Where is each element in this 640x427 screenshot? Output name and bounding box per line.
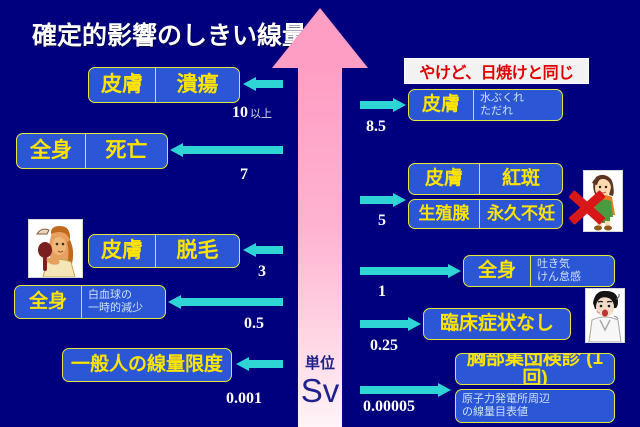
dose-number: 7 xyxy=(240,166,248,183)
dose-number: 0.25 xyxy=(370,337,398,354)
dose-number: 3 xyxy=(258,263,266,280)
dose-suffix: 以上 xyxy=(250,108,272,120)
effect-organ-label: 全身 xyxy=(464,256,530,286)
effect-box-skin-erythema[interactable]: 皮膚 紅斑 xyxy=(408,163,563,195)
dose-value-8-5: 8.5 xyxy=(366,118,386,136)
effect-box-skin-hairloss[interactable]: 皮膚 脱毛 xyxy=(88,234,240,268)
dose-scale-arrow-icon xyxy=(272,8,368,427)
slide-canvas: 確定的影響のしきい線量 単位 Sv 皮膚 潰瘍 10以上 全身 死亡 7 xyxy=(0,0,640,427)
effect-symptom-label: 胸部集団検診 (1回) xyxy=(456,354,614,384)
woman-hair-loss-mirror-image xyxy=(28,219,83,278)
effect-organ-label: 皮膚 xyxy=(89,235,155,267)
dose-arrow-left-05 xyxy=(168,295,283,309)
effect-symptom-label: 水ぶくれ ただれ xyxy=(473,90,562,120)
effect-organ-label: 生殖腺 xyxy=(409,200,479,228)
effect-box-public-dose-limit[interactable]: 一般人の線量限度 xyxy=(62,348,232,382)
prohibition-cross-icon xyxy=(566,186,608,228)
dose-value-0-001: 0.001 xyxy=(226,390,262,408)
effect-organ-label: 全身 xyxy=(17,134,85,168)
effect-symptom-label: 潰瘍 xyxy=(155,68,239,102)
effect-box-gonad-sterility[interactable]: 生殖腺 永久不妊 xyxy=(408,199,563,229)
effect-box-npp-target-dose[interactable]: 原子力発電所周辺 の線量目表値 xyxy=(455,389,615,423)
effect-organ-label: 皮膚 xyxy=(409,164,479,194)
sick-man-nausea-image xyxy=(585,288,625,343)
dose-number: 0.00005 xyxy=(363,398,415,415)
dose-number: 5 xyxy=(378,212,386,229)
effect-organ-label: 皮膚 xyxy=(409,90,473,120)
burn-comparison-caption: やけど、日焼けと同じ xyxy=(404,58,589,84)
scale-arrow-shaft xyxy=(298,65,342,427)
dose-value-0-25: 0.25 xyxy=(370,337,398,355)
effect-box-skin-ulcer[interactable]: 皮膚 潰瘍 xyxy=(88,67,240,103)
dose-value-0-5: 0.5 xyxy=(244,315,264,333)
scale-arrow-head xyxy=(272,8,368,68)
dose-number: 10 xyxy=(232,104,248,121)
effect-organ-label: 全身 xyxy=(15,286,81,318)
dose-arrow-left-3 xyxy=(243,243,283,257)
effect-box-wholebody-death[interactable]: 全身 死亡 xyxy=(16,133,168,169)
dose-arrow-right-000005 xyxy=(360,383,451,397)
dose-number: 0.5 xyxy=(244,315,264,332)
dose-number: 0.001 xyxy=(226,390,262,407)
dose-arrow-right-5 xyxy=(360,193,406,207)
dose-number: 1 xyxy=(378,283,386,300)
effect-box-skin-blister[interactable]: 皮膚 水ぶくれ ただれ xyxy=(408,89,563,121)
dose-arrow-right-1 xyxy=(360,264,461,278)
effect-symptom-label: 原子力発電所周辺 の線量目表値 xyxy=(456,390,614,422)
effect-symptom-label: 脱毛 xyxy=(155,235,239,267)
dose-arrow-left-0001 xyxy=(236,357,283,371)
dose-number: 8.5 xyxy=(366,118,386,135)
effect-box-wholebody-nausea[interactable]: 全身 吐き気 けん怠感 xyxy=(463,255,615,287)
effect-box-wholebody-wbc[interactable]: 全身 白血球の 一時的減少 xyxy=(14,285,166,319)
dose-arrow-left-10 xyxy=(243,77,283,91)
dose-value-3: 3 xyxy=(258,263,266,281)
effect-box-no-clinical-symptoms[interactable]: 臨床症状なし xyxy=(423,308,571,340)
dose-value-0-00005: 0.00005 xyxy=(363,398,415,416)
dose-arrow-right-025 xyxy=(360,317,421,331)
effect-box-chest-screening[interactable]: 胸部集団検診 (1回) xyxy=(455,353,615,385)
effect-symptom-label: 死亡 xyxy=(85,134,167,168)
effect-symptom-label: 白血球の 一時的減少 xyxy=(81,286,165,318)
dose-value-7: 7 xyxy=(240,166,248,184)
dose-value-5: 5 xyxy=(378,212,386,230)
dose-arrow-right-85 xyxy=(360,98,406,112)
page-title: 確定的影響のしきい線量 xyxy=(32,16,307,52)
dose-value-10: 10以上 xyxy=(232,104,272,122)
effect-organ-label: 皮膚 xyxy=(89,68,155,102)
effect-symptom-label: 永久不妊 xyxy=(479,200,562,228)
dose-value-1: 1 xyxy=(378,283,386,301)
effect-symptom-label: 臨床症状なし xyxy=(424,309,570,339)
dose-arrow-left-7 xyxy=(170,143,283,157)
effect-symptom-label: 一般人の線量限度 xyxy=(63,349,231,381)
effect-symptom-label: 吐き気 けん怠感 xyxy=(530,256,614,286)
effect-symptom-label: 紅斑 xyxy=(479,164,562,194)
